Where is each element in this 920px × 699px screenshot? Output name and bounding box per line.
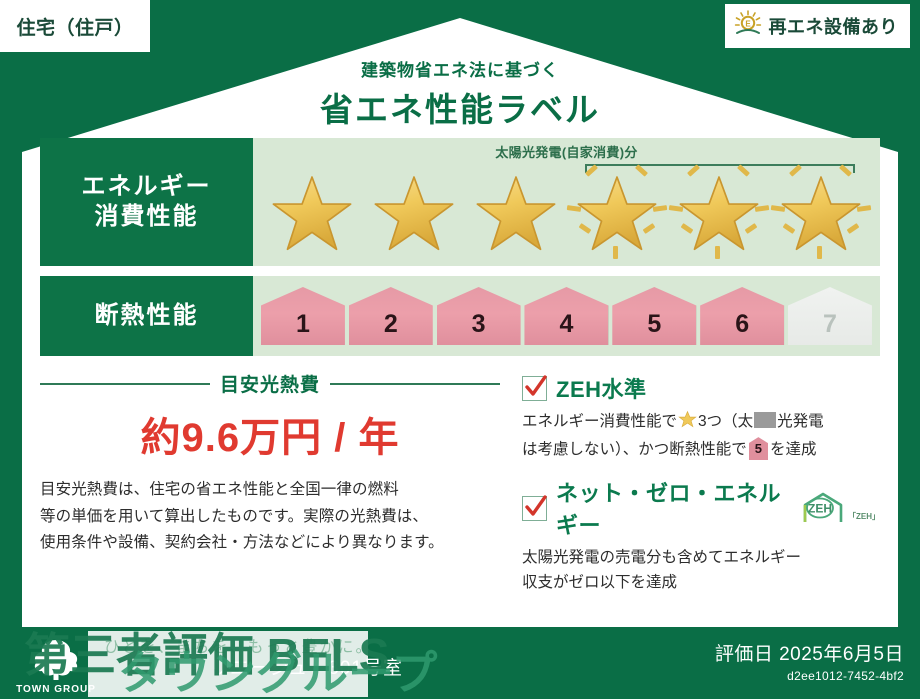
star-icon xyxy=(372,172,456,256)
renewable-equipment-badge: E 再エネ設備あり xyxy=(720,4,911,48)
insulation-grade-3: 3 xyxy=(437,287,521,345)
renewable-badge-label: 再エネ設備あり xyxy=(769,13,899,39)
zeh-desc-part-a: エネルギー消費性能で xyxy=(522,413,677,430)
net-zero-title: ネット・ゼロ・エネルギー xyxy=(556,476,785,540)
zeh-desc-part-d: は考慮しない）、かつ断熱性能で xyxy=(522,441,747,458)
energy-stars xyxy=(253,172,880,256)
net-zero-head: ネット・ゼロ・エネルギー ZEH 「ZEH」 xyxy=(522,476,880,540)
sparkle-icon xyxy=(669,205,684,212)
check-icon xyxy=(522,496,547,521)
zeh-standard-desc: エネルギー消費性能で3つ（太光発電 は考慮しない）、かつ断熱性能で5を達成 xyxy=(522,409,880,462)
net-zero-desc-line2: 収支がゼロ以下を達成 xyxy=(522,570,880,595)
svg-text:ZEH: ZEH xyxy=(808,502,832,516)
energy-performance-label: エネルギー 消費性能 xyxy=(40,138,253,266)
net-zero-desc: 太陽光発電の売電分も含めてエネルギー 収支がゼロ以下を達成 xyxy=(522,545,880,595)
insulation-grade-7: 7 xyxy=(788,287,872,345)
energy-label-line2: 消費性能 xyxy=(95,202,199,232)
net-zero-energy-item: ネット・ゼロ・エネルギー ZEH 「ZEH」 太陽光発電の xyxy=(522,476,880,595)
title-main: 省エネ性能ラベル xyxy=(0,83,920,131)
zeh-standard-item: ZEH水準 エネルギー消費性能で3つ（太光発電 は考慮しない）、かつ断熱性能で5… xyxy=(522,372,880,462)
cost-note-line3: 使用条件や設備、契約会社・方法などにより異なります。 xyxy=(40,530,500,557)
lower-section: 目安光熱費 約9.6万円 / 年 目安光熱費は、住宅の省エネ性能と全国一律の燃料… xyxy=(40,370,880,609)
zeh-section: ZEH水準 エネルギー消費性能で3つ（太光発電 は考慮しない）、かつ断熱性能で5… xyxy=(500,370,880,609)
evaluation-date: 評価日 2025年6月5日 xyxy=(715,639,904,666)
star-icon xyxy=(779,172,863,256)
energy-label-root: 住宅（住戸） E 再エネ設備あり 建築物省エネ法に基づ xyxy=(0,0,920,699)
sun-icon: E xyxy=(733,9,763,44)
insulation-performance-label: 断熱性能 xyxy=(40,276,253,356)
insulation-performance-row: 断熱性能 1234567 xyxy=(40,276,880,356)
star-icon xyxy=(474,172,558,256)
sparkle-icon xyxy=(567,205,582,212)
zeh-house-icon: ZEH 「ZEH」 xyxy=(800,491,880,525)
dwelling-type-tag: 住宅（住戸） xyxy=(0,0,150,52)
sparkle-icon xyxy=(613,246,618,259)
sparkle-icon xyxy=(817,246,822,259)
insulation-performance-value: 1234567 xyxy=(253,276,880,356)
label-content: エネルギー 消費性能 太陽光発電(自家消費)分 断熱性能 1234567 xyxy=(40,138,880,609)
zeh-standard-head: ZEH水準 xyxy=(522,372,880,404)
property-name: リエージュ 301号室 xyxy=(210,653,403,680)
sparkle-icon xyxy=(857,205,872,212)
title-subtitle: 建築物省エネ法に基づく xyxy=(0,56,920,81)
sparkle-icon xyxy=(653,205,668,212)
zeh-desc-part-e: を達成 xyxy=(770,441,817,458)
insulation-grades: 1234567 xyxy=(253,276,880,356)
cost-note-line1: 目安光熱費は、住宅の省エネ性能と全国一律の燃料 xyxy=(40,477,500,504)
sparkle-icon xyxy=(755,205,770,212)
zeh-standard-title: ZEH水準 xyxy=(556,372,647,404)
star-icon xyxy=(270,172,354,256)
footer-meta: 評価日 2025年6月5日 d2ee1012-7452-4bf2 xyxy=(715,639,904,683)
insulation-grade-2: 2 xyxy=(349,287,433,345)
solar-annotation-label: 太陽光発電(自家消費)分 xyxy=(495,145,637,160)
evaluation-id: d2ee1012-7452-4bf2 xyxy=(715,669,904,683)
sparkle-icon xyxy=(771,205,786,212)
cost-rule-left xyxy=(40,383,210,385)
energy-performance-value: 太陽光発電(自家消費)分 xyxy=(253,138,880,266)
cost-heading-row: 目安光熱費 xyxy=(40,370,500,397)
energy-label-line1: エネルギー xyxy=(82,172,212,202)
redaction-block xyxy=(754,412,776,428)
insulation-grade-6: 6 xyxy=(700,287,784,345)
town-group-logo: TOWN GROUP xyxy=(8,637,104,695)
label-title-block: 建築物省エネ法に基づく 省エネ性能ラベル xyxy=(0,56,920,131)
insulation-grade-5: 5 xyxy=(612,287,696,345)
label-footer: リエージュ 301号室 評価日 2025年6月5日 d2ee1012-7452-… xyxy=(0,627,920,699)
zeh-desc-part-b: 3つ（太 xyxy=(698,413,753,430)
insulation-grade-badge: 5 xyxy=(749,437,768,460)
star-icon xyxy=(677,172,761,256)
net-zero-desc-line1: 太陽光発電の売電分も含めてエネルギー xyxy=(522,545,880,570)
town-group-logo-text: TOWN GROUP xyxy=(8,684,104,695)
cost-rule-right xyxy=(330,383,500,385)
tree-icon xyxy=(27,668,85,685)
cost-note: 目安光熱費は、住宅の省エネ性能と全国一律の燃料 等の単価を用いて算出したものです… xyxy=(40,477,500,557)
sparkle-icon xyxy=(715,246,720,259)
energy-performance-row: エネルギー 消費性能 太陽光発電(自家消費)分 xyxy=(40,138,880,266)
cost-amount: 約9.6万円 / 年 xyxy=(40,405,500,463)
cost-section: 目安光熱費 約9.6万円 / 年 目安光熱費は、住宅の省エネ性能と全国一律の燃料… xyxy=(40,370,500,609)
zeh-logo-caption: 「ZEH」 xyxy=(848,511,880,522)
insulation-grade-4: 4 xyxy=(524,287,608,345)
insulation-grade-1: 1 xyxy=(261,287,345,345)
star-icon xyxy=(678,416,697,433)
dwelling-type-label: 住宅（住戸） xyxy=(16,13,133,40)
solar-annotation: 太陽光発電(自家消費)分 xyxy=(253,142,880,162)
zeh-desc-part-c: 光発電 xyxy=(777,413,824,430)
check-icon xyxy=(522,376,547,401)
cost-note-line2: 等の単価を用いて算出したものです。実際の光熱費は、 xyxy=(40,504,500,531)
insulation-label-text: 断熱性能 xyxy=(95,301,199,331)
cost-heading-label: 目安光熱費 xyxy=(220,370,320,397)
svg-text:E: E xyxy=(745,19,751,28)
star-icon xyxy=(575,172,659,256)
